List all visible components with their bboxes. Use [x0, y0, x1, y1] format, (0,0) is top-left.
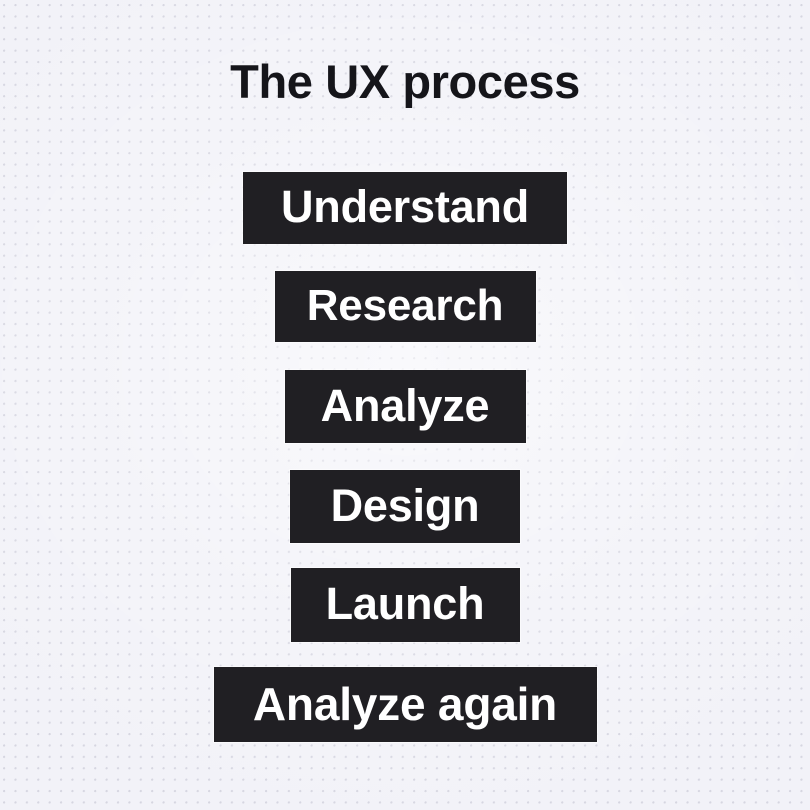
process-step-launch: Launch: [291, 568, 520, 642]
process-step-label: Analyze: [321, 380, 490, 432]
process-step-label: Design: [331, 480, 480, 532]
process-step-research: Research: [275, 271, 536, 342]
process-step-analyze: Analyze: [285, 370, 526, 443]
process-step-analyze-again: Analyze again: [214, 667, 597, 742]
process-step-understand: Understand: [243, 172, 567, 244]
process-step-label: Understand: [281, 181, 529, 233]
ux-process-canvas: The UX process Understand Research Analy…: [0, 0, 810, 810]
process-step-label: Launch: [326, 578, 485, 630]
page-title: The UX process: [0, 57, 810, 108]
process-step-design: Design: [290, 470, 520, 543]
process-step-list: Understand Research Analyze Design Launc…: [0, 172, 810, 742]
process-step-label: Analyze again: [253, 677, 557, 731]
process-step-label: Research: [307, 281, 504, 331]
